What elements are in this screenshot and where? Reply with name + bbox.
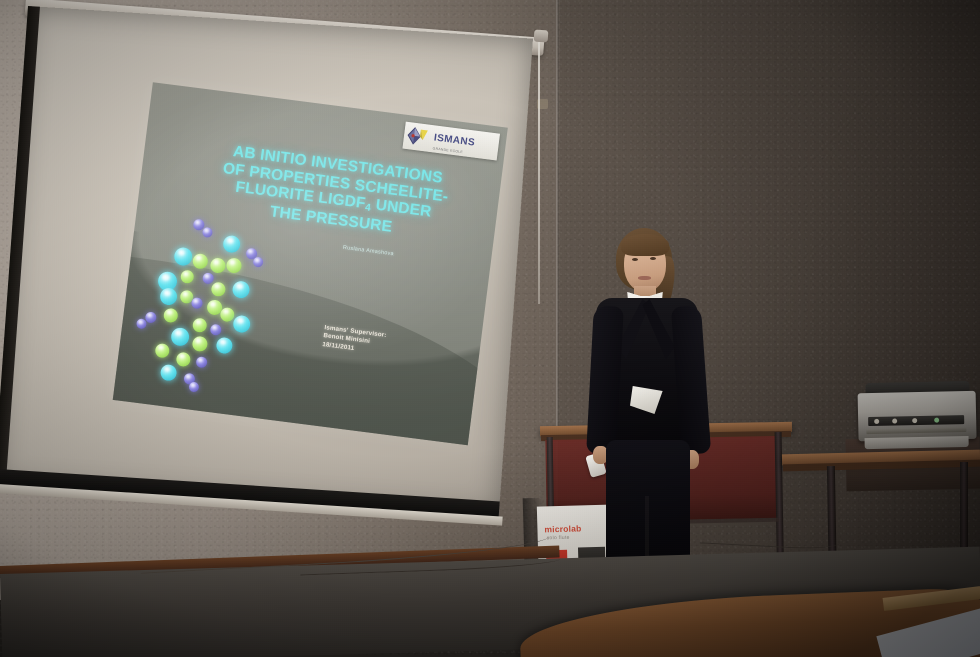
printer-body [858, 391, 977, 441]
printer-paper-slot [866, 427, 966, 434]
printer-button-power[interactable] [874, 419, 879, 424]
laser-printer [857, 381, 980, 444]
printer-button-go[interactable] [912, 418, 917, 423]
pyramid-logo-icon [406, 125, 432, 149]
speaker-carton-model: solo flute [547, 535, 570, 542]
screen-roller-endcap [534, 30, 549, 43]
printer-led-status [934, 418, 939, 423]
photo-scene: ISMANS GRANDE ECOLE [0, 0, 980, 657]
presenter-eye-right [650, 257, 656, 260]
projected-slide: ISMANS GRANDE ECOLE [113, 82, 508, 445]
presenter-mouth [638, 276, 651, 280]
printer-input-tray[interactable] [865, 436, 969, 449]
ismans-logo-text: ISMANS GRANDE ECOLE [432, 127, 476, 155]
screen-pull-cord[interactable] [538, 42, 540, 304]
presenter-hair-front [621, 234, 669, 256]
ismans-logo: ISMANS GRANDE ECOLE [402, 122, 500, 161]
printer-button-cancel[interactable] [892, 418, 897, 423]
projection-screen: ISMANS GRANDE ECOLE [0, 6, 533, 517]
presenter-eye-left [632, 258, 638, 261]
presenter [568, 228, 732, 610]
crystal-structure-molecule [125, 211, 274, 401]
